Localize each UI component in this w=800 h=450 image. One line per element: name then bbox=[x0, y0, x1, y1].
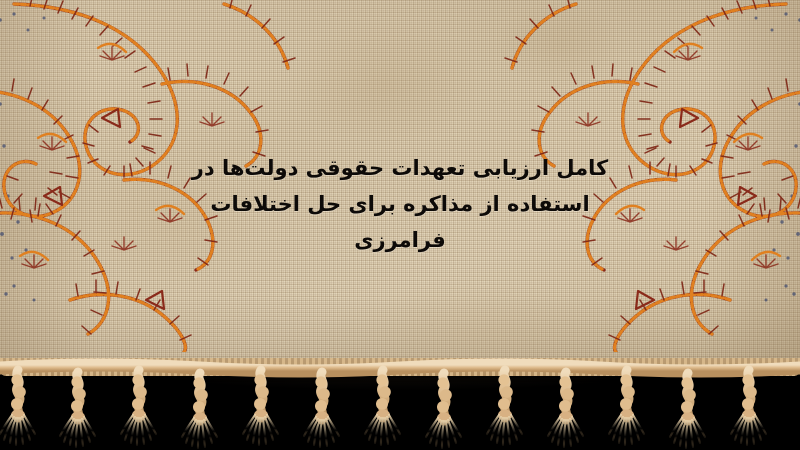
caption-line-2: استفاده از مذاکره برای حل اختلافات bbox=[180, 186, 620, 222]
title-caption: کامل ارزیابی تعهدات حقوقی دولت‌ها در است… bbox=[0, 150, 800, 258]
textile-title-card: کامل ارزیابی تعهدات حقوقی دولت‌ها در است… bbox=[0, 0, 800, 450]
caption-line-1: کامل ارزیابی تعهدات حقوقی دولت‌ها در bbox=[180, 150, 620, 186]
cloth-hem-edge bbox=[0, 358, 800, 376]
caption-line-3: فرامرزی bbox=[180, 222, 620, 258]
